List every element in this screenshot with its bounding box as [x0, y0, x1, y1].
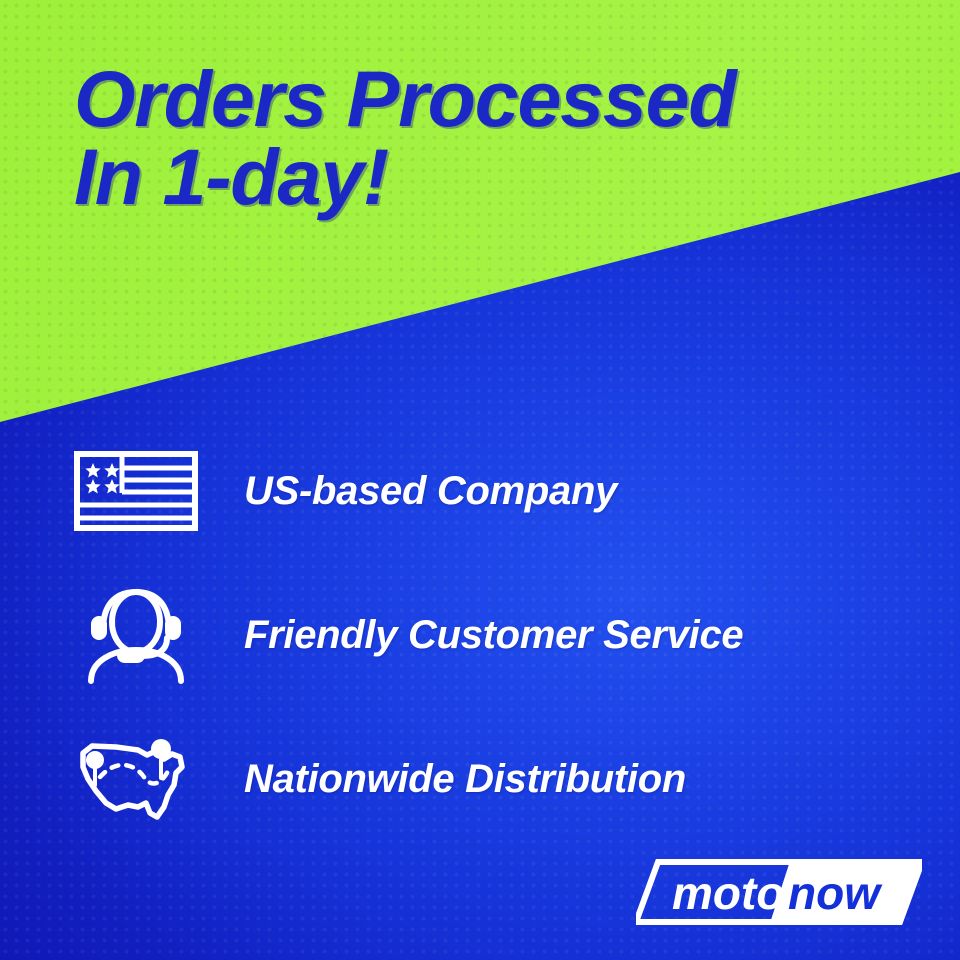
feature-row-us-based: US-based Company [72, 438, 743, 544]
promo-banner: Orders Processed In 1-day! [0, 0, 960, 960]
feature-label-customer-service: Friendly Customer Service [244, 613, 743, 658]
us-map-pins-icon [72, 733, 200, 825]
headline-line-1: Orders Processed [74, 60, 914, 138]
feature-list: US-based Company [72, 438, 743, 870]
feature-row-nationwide: Nationwide Distribution [72, 726, 743, 832]
logo-text-now: now [788, 867, 883, 919]
headset-support-icon [72, 586, 200, 684]
headline: Orders Processed In 1-day! [74, 60, 914, 216]
logo-text-moto: moto [672, 867, 784, 919]
feature-label-nationwide: Nationwide Distribution [244, 757, 686, 802]
feature-row-customer-service: Friendly Customer Service [72, 582, 743, 688]
us-flag-icon [72, 451, 200, 531]
headline-line-2: In 1-day! [74, 138, 914, 216]
motonow-logo[interactable]: moto now [636, 854, 922, 930]
feature-label-us-based: US-based Company [244, 469, 617, 514]
